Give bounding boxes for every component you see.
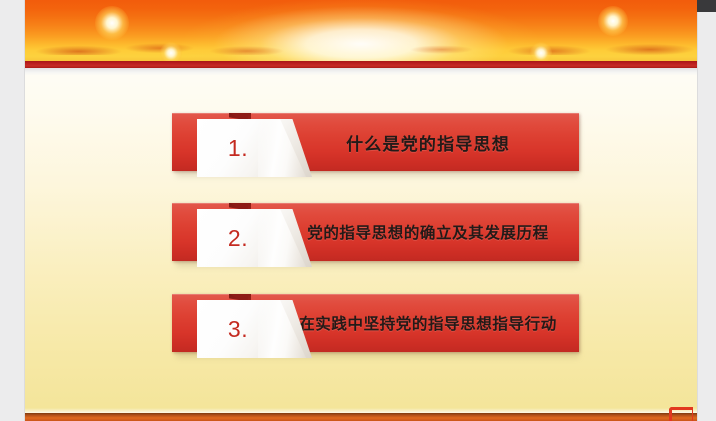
agenda-item-number: 1.	[197, 119, 279, 177]
header-divider-rule	[25, 61, 697, 68]
header-sheen	[25, 68, 697, 76]
agenda-item-title: 党的指导思想的确立及其发展历程	[277, 203, 579, 261]
agenda-item-3[interactable]: 在实践中坚持党的指导思想指导行动 3.	[172, 294, 579, 354]
footer-divider-rule	[25, 413, 697, 421]
screenshot-viewport: 什么是党的指导思想 1. 党的指导思想的确立及其发展历程 2. 在实践中坚持党的…	[0, 0, 716, 421]
app-chrome-right-divider	[697, 0, 698, 421]
watermark-shape	[669, 407, 693, 421]
watermark-logo-icon	[667, 403, 693, 421]
top-toolbar-stub-corner[interactable]	[697, 0, 716, 12]
light-orb-icon	[598, 6, 628, 36]
agenda-item-number: 3.	[197, 300, 279, 358]
cloud-band	[25, 37, 697, 55]
presentation-slide: 什么是党的指导思想 1. 党的指导思想的确立及其发展历程 2. 在实践中坚持党的…	[25, 0, 697, 421]
agenda-item-number: 2.	[197, 209, 279, 267]
light-orb-icon	[95, 6, 129, 40]
agenda-item-2[interactable]: 党的指导思想的确立及其发展历程 2.	[172, 203, 579, 263]
agenda-item-title: 在实践中坚持党的指导思想指导行动	[277, 294, 579, 352]
sunrise-header-banner	[25, 0, 697, 61]
agenda-item-title: 什么是党的指导思想	[277, 113, 579, 171]
agenda-item-1[interactable]: 什么是党的指导思想 1.	[172, 113, 579, 173]
